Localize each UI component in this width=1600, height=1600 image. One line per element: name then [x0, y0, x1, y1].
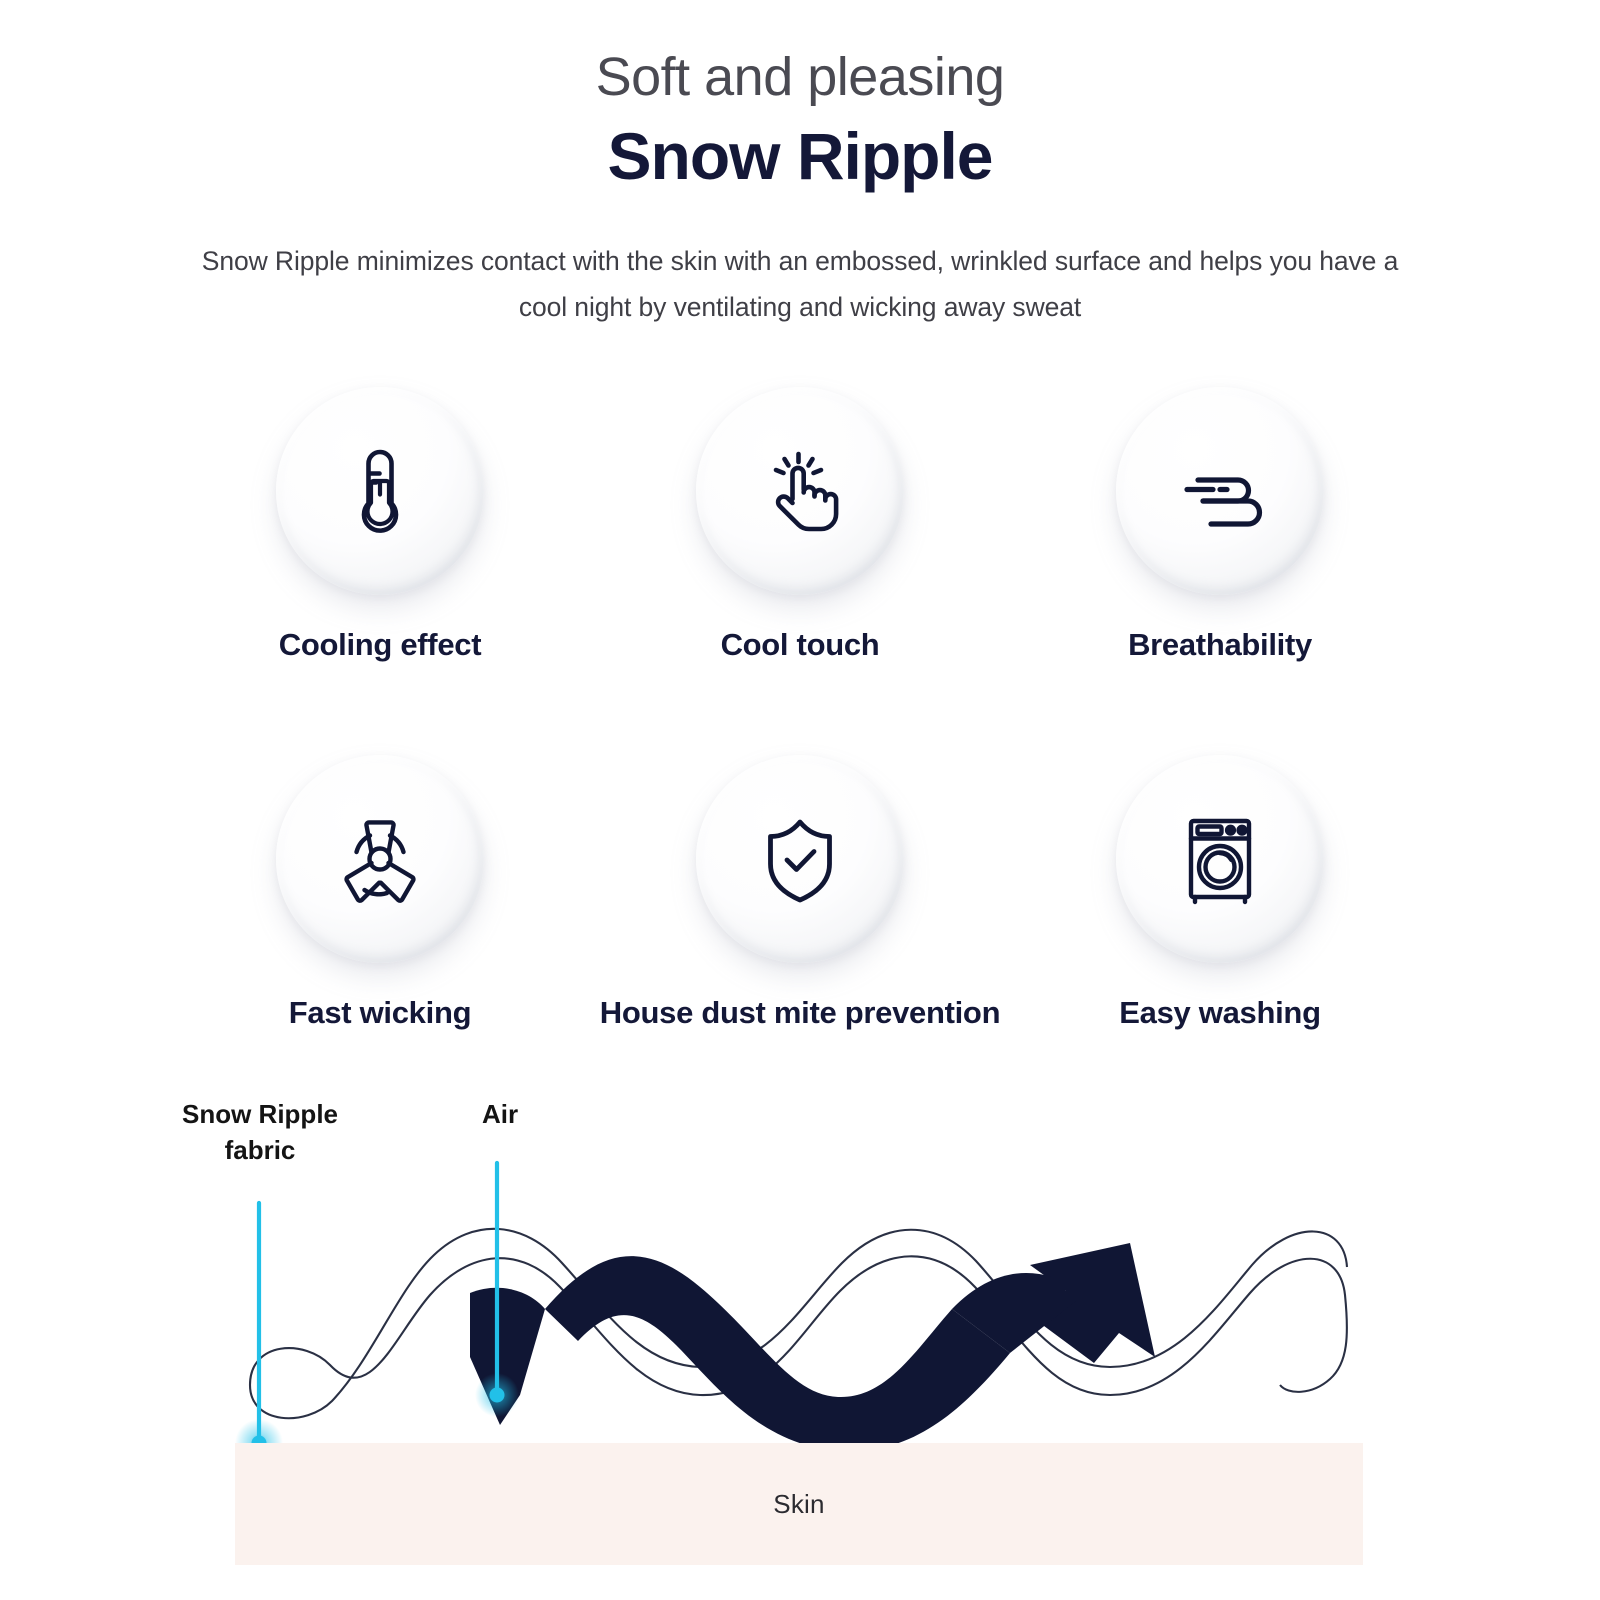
feature-cool-touch[interactable]: Cool touch — [590, 387, 1010, 663]
thermometer-icon — [328, 439, 432, 543]
feature-grid: Cooling effect — [170, 387, 1430, 1031]
product-feature-page: Soft and pleasing Snow Ripple Snow Rippl… — [0, 0, 1600, 1600]
page-title: Snow Ripple — [0, 118, 1600, 196]
callout-air: Air — [420, 1096, 580, 1133]
feature-orb — [1116, 755, 1324, 963]
skin-label: Skin — [773, 1489, 824, 1520]
feature-label: House dust mite prevention — [600, 995, 1000, 1031]
feature-label: Breathability — [1128, 627, 1312, 663]
pointer-fabric — [235, 1203, 283, 1445]
shield-check-icon — [748, 807, 852, 911]
feature-orb — [276, 755, 484, 963]
feature-orb — [696, 755, 904, 963]
wind-icon — [1166, 439, 1274, 543]
page-header: Soft and pleasing Snow Ripple Snow Rippl… — [0, 0, 1600, 331]
fan-propeller-icon — [326, 805, 434, 913]
feature-label: Cooling effect — [279, 627, 481, 663]
skin-layer-bar: Skin — [235, 1443, 1363, 1565]
feature-orb — [276, 387, 484, 595]
feature-label: Easy washing — [1119, 995, 1320, 1031]
feature-orb — [696, 387, 904, 595]
airflow-arrow — [470, 1243, 1155, 1445]
feature-orb — [1116, 387, 1324, 595]
tap-hand-icon — [748, 439, 852, 543]
feature-easy-washing[interactable]: Easy washing — [1010, 755, 1430, 1031]
washing-machine-icon — [1168, 807, 1272, 911]
feature-label: Fast wicking — [289, 995, 471, 1031]
feature-breathability[interactable]: Breathability — [1010, 387, 1430, 663]
intro-paragraph: Snow Ripple minimizes contact with the s… — [195, 239, 1405, 330]
feature-dust-mite-prevention[interactable]: House dust mite prevention — [590, 755, 1010, 1031]
airflow-diagram: Snow Ripple fabric Air — [0, 1095, 1600, 1445]
eyebrow-text: Soft and pleasing — [0, 44, 1600, 112]
callout-snow-ripple-fabric: Snow Ripple fabric — [160, 1096, 360, 1170]
feature-fast-wicking[interactable]: Fast wicking — [170, 755, 590, 1031]
feature-label: Cool touch — [721, 627, 880, 663]
feature-cooling-effect[interactable]: Cooling effect — [170, 387, 590, 663]
